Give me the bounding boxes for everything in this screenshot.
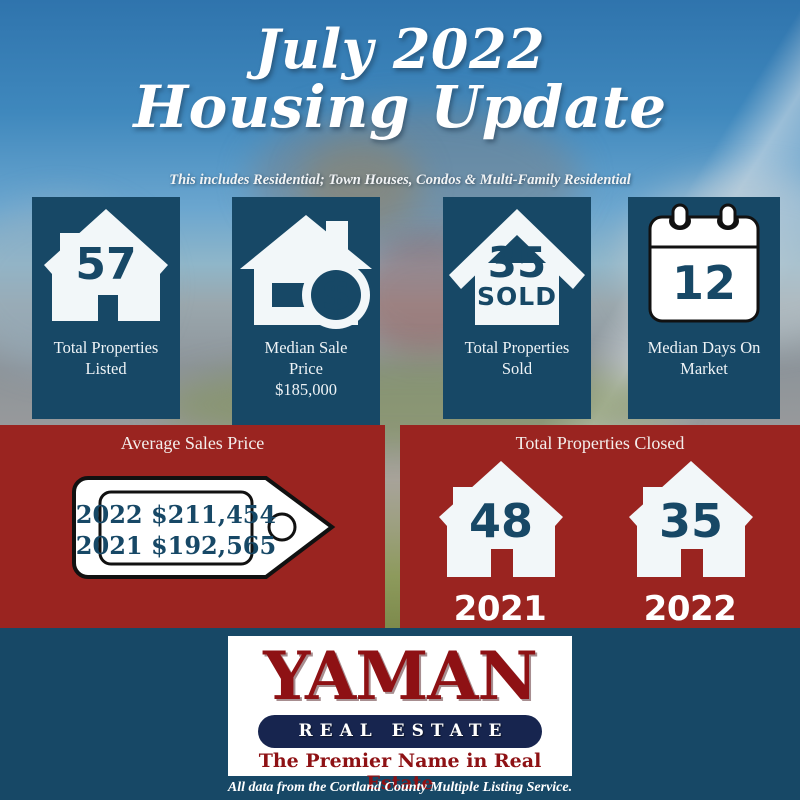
logo-wordmark: YAMAN (228, 640, 572, 712)
infographic-canvas: July 2022 Housing Update This includes R… (0, 0, 800, 800)
stat-card-total-sold: 35 SOLD Total Properties Sold (443, 197, 591, 419)
dollar-glyph: $ (321, 269, 352, 320)
stat-caption: Total Properties Sold (447, 337, 587, 379)
closed-year: 2022 (615, 589, 765, 629)
caption-line-2: Listed (36, 358, 176, 379)
title-line-2: Housing Update (0, 78, 800, 136)
stat-card-row: 57 Total Properties Listed $ Median Sale… (0, 197, 800, 425)
header-subtitle: This includes Residential; Town Houses, … (0, 172, 800, 189)
caption-line-1: Median Days On (632, 337, 776, 358)
page-title: July 2022 Housing Update (0, 20, 800, 136)
house-icon: 57 (32, 203, 180, 331)
price-tag: 2022 $211,454 2021 $192,565 (70, 470, 340, 585)
caption-line-2: Market (632, 358, 776, 379)
total-properties-closed-panel: Total Properties Closed 48 2021 35 2022 (400, 425, 800, 628)
title-line-1: July 2022 (255, 17, 545, 81)
logo-pill: REAL ESTATE (258, 715, 542, 748)
average-sales-price-panel: Average Sales Price 2022 $211,454 2021 $… (0, 425, 385, 628)
price-tag-icon: 2022 $211,454 2021 $192,565 (70, 470, 340, 585)
stat-caption: Median Sale Price $185,000 (236, 337, 376, 400)
house-roof-sold-icon: 35 SOLD (443, 203, 591, 331)
closed-value: 48 (469, 494, 533, 548)
closed-house-2021: 48 2021 (425, 455, 575, 625)
caption-line-2: Sold (447, 358, 587, 379)
red-band: Average Sales Price 2022 $211,454 2021 $… (0, 425, 800, 628)
stat-caption: Total Properties Listed (36, 337, 176, 379)
stat-card-median-sale-price: $ Median Sale Price $185,000 (232, 197, 380, 425)
stat-caption: Median Days On Market (632, 337, 776, 379)
caption-line-1: Total Properties (447, 337, 587, 358)
stat-value: 57 (75, 239, 136, 290)
stat-card-total-listed: 57 Total Properties Listed (32, 197, 180, 419)
stat-value-sub: SOLD (477, 282, 557, 311)
closed-year: 2021 (425, 589, 575, 629)
price-row-2022: 2022 $211,454 (76, 500, 276, 529)
data-source-disclaimer: All data from the Cortland County Multip… (0, 780, 800, 796)
stat-card-median-days-on-market: 12 Median Days On Market (628, 197, 780, 419)
stat-value: 12 (672, 256, 736, 310)
logo-pill-text: REAL ESTATE (258, 715, 542, 748)
average-sales-price-title: Average Sales Price (0, 433, 385, 454)
caption-line-1: Median Sale (236, 337, 376, 358)
total-properties-closed-title: Total Properties Closed (400, 433, 800, 454)
calendar-icon: 12 (628, 203, 780, 331)
header: July 2022 Housing Update This includes R… (0, 0, 800, 197)
closed-house-2022: 35 2022 (615, 455, 765, 625)
price-row-2021: 2021 $192,565 (76, 531, 276, 560)
house-icon: 35 (615, 455, 765, 593)
stat-value: 35 (488, 238, 546, 287)
caption-line-2: Price (236, 358, 376, 379)
caption-line-1: Total Properties (36, 337, 176, 358)
house-icon: 48 (425, 455, 575, 593)
footer: YAMAN REAL ESTATE The Premier Name in Re… (0, 628, 800, 800)
closed-value: 35 (659, 494, 723, 548)
yaman-logo: YAMAN REAL ESTATE The Premier Name in Re… (228, 636, 572, 776)
house-dollar-icon: $ (232, 203, 380, 331)
caption-line-3: $185,000 (236, 379, 376, 400)
